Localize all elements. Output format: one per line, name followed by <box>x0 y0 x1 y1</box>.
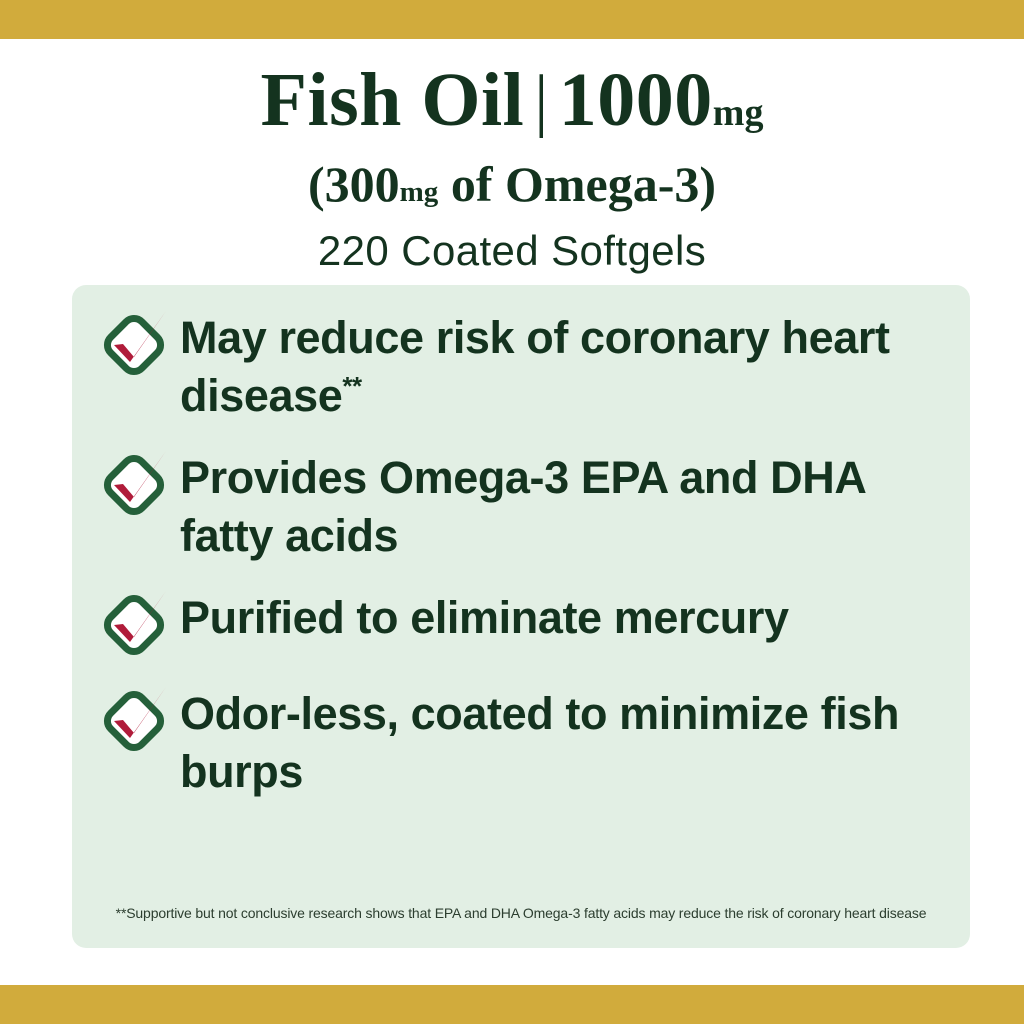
top-gold-band <box>0 0 1024 39</box>
list-item: Odor-less, coated to minimize fish burps <box>98 683 944 801</box>
list-item: Purified to eliminate mercury <box>98 587 944 661</box>
benefit-text: Odor-less, coated to minimize fish burps <box>180 683 944 801</box>
benefit-text: May reduce risk of coronary heart diseas… <box>180 307 944 425</box>
bottom-gold-band <box>0 985 1024 1024</box>
main-content: Fish Oil|1000mg (300mg of Omega-3) 220 C… <box>0 39 1024 985</box>
list-item: May reduce risk of coronary heart diseas… <box>98 307 944 425</box>
product-title: Fish Oil|1000mg <box>0 58 1024 155</box>
product-header: Fish Oil|1000mg (300mg of Omega-3) 220 C… <box>0 39 1024 277</box>
product-name: Fish Oil <box>261 58 525 142</box>
check-diamond-icon <box>98 449 170 521</box>
title-separator: | <box>524 62 559 139</box>
benefits-panel: May reduce risk of coronary heart diseas… <box>72 285 970 948</box>
check-diamond-icon <box>98 589 170 661</box>
strength-unit: mg <box>713 92 764 134</box>
benefit-text: Purified to eliminate mercury <box>180 587 789 647</box>
check-diamond-icon <box>98 309 170 381</box>
omega-prefix: (300 <box>308 156 400 212</box>
omega-subtitle: (300mg of Omega-3) <box>0 155 1024 221</box>
softgel-count: 220 Coated Softgels <box>0 225 1024 277</box>
benefit-label: Odor-less, coated to minimize fish burps <box>180 688 899 797</box>
benefit-text: Provides Omega-3 EPA and DHA fatty acids <box>180 447 944 565</box>
omega-unit: mg <box>400 176 439 208</box>
footnote-marker: ** <box>342 371 361 401</box>
benefit-label: Purified to eliminate mercury <box>180 592 789 643</box>
panel-footnote: **Supportive but not conclusive research… <box>72 904 970 922</box>
benefit-label: May reduce risk of coronary heart diseas… <box>180 312 890 421</box>
omega-suffix: of Omega-3) <box>438 156 716 212</box>
check-diamond-icon <box>98 685 170 757</box>
strength-value: 1000 <box>559 58 713 142</box>
benefit-label: Provides Omega-3 EPA and DHA fatty acids <box>180 452 865 561</box>
list-item: Provides Omega-3 EPA and DHA fatty acids <box>98 447 944 565</box>
benefit-list: May reduce risk of coronary heart diseas… <box>98 307 944 801</box>
